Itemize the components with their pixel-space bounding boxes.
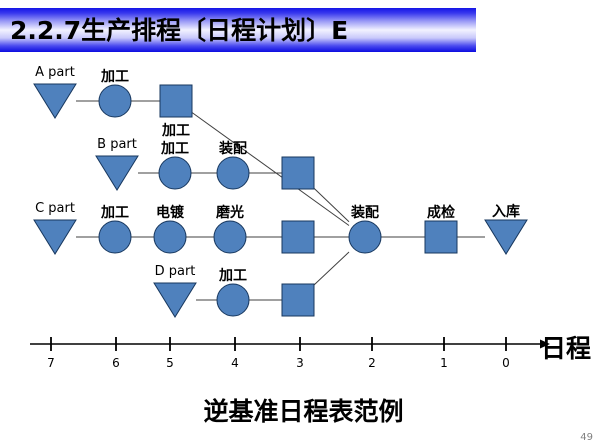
node-b-square-square xyxy=(282,157,314,189)
node-a-part-triangle xyxy=(34,84,76,118)
node-label-c-jiagong: 加工 xyxy=(101,202,129,222)
node-label-c-moguang: 磨光 xyxy=(216,202,244,222)
axis-tick-label-0: 0 xyxy=(502,356,510,370)
timeline-axis xyxy=(30,337,550,351)
node-final-chengjian-square xyxy=(425,221,457,253)
node-label-d-part: D part xyxy=(155,264,196,279)
node-label-c-part: C part xyxy=(35,201,75,216)
node-b-zhuangpei-circle xyxy=(217,157,249,189)
node-label-d-jiagong: 加工 xyxy=(219,265,247,285)
node-c-jiagong-circle xyxy=(99,221,131,253)
node-c-square-square xyxy=(282,221,314,253)
node-c-diandu-circle xyxy=(154,221,186,253)
axis-tick-label-4: 4 xyxy=(231,356,239,370)
axis-tick-label-5: 5 xyxy=(166,356,174,370)
node-b-part-triangle xyxy=(96,156,138,190)
axis-tick-label-1: 1 xyxy=(440,356,448,370)
axis-tick-label-3: 3 xyxy=(296,356,304,370)
connector-b-square-to-final-zhuangpei xyxy=(314,188,349,221)
connector-d-square-to-final-zhuangpei xyxy=(314,252,349,285)
node-label-a-jiagong2: 加工 xyxy=(162,120,190,140)
node-label-c-diandu: 电镀 xyxy=(156,202,184,222)
node-label-final-chengjian: 成检 xyxy=(427,202,455,222)
node-label-final-zhuangpei: 装配 xyxy=(351,202,379,222)
connector-layer xyxy=(76,101,485,300)
node-label-a-jiagong: 加工 xyxy=(101,66,129,86)
page-number: 49 xyxy=(580,432,593,443)
node-b-jiagong-circle xyxy=(159,157,191,189)
node-d-jiagong-circle xyxy=(217,284,249,316)
node-c-moguang-circle xyxy=(214,221,246,253)
node-a-jiagong2-square xyxy=(160,85,192,117)
node-label-b-part: B part xyxy=(97,137,137,152)
node-layer xyxy=(34,84,527,317)
axis-tick-label-6: 6 xyxy=(112,356,120,370)
axis-tick-label-2: 2 xyxy=(368,356,376,370)
node-final-ruku-triangle xyxy=(485,220,527,254)
node-label-b-jiagong: 加工 xyxy=(161,138,189,158)
node-label-b-zhuangpei: 装配 xyxy=(219,138,247,158)
node-d-part-triangle xyxy=(154,283,196,317)
axis-title: 日程 xyxy=(541,329,591,365)
node-a-jiagong-circle xyxy=(99,85,131,117)
axis-tick-label-7: 7 xyxy=(47,356,55,370)
node-d-square-square xyxy=(282,284,314,316)
node-final-zhuangpei-circle xyxy=(349,221,381,253)
figure-caption: 逆基准日程表范例 xyxy=(0,392,607,428)
node-label-final-ruku: 入库 xyxy=(492,201,520,221)
node-c-part-triangle xyxy=(34,220,76,254)
node-label-a-part: A part xyxy=(35,65,75,80)
schedule-diagram xyxy=(0,0,607,448)
